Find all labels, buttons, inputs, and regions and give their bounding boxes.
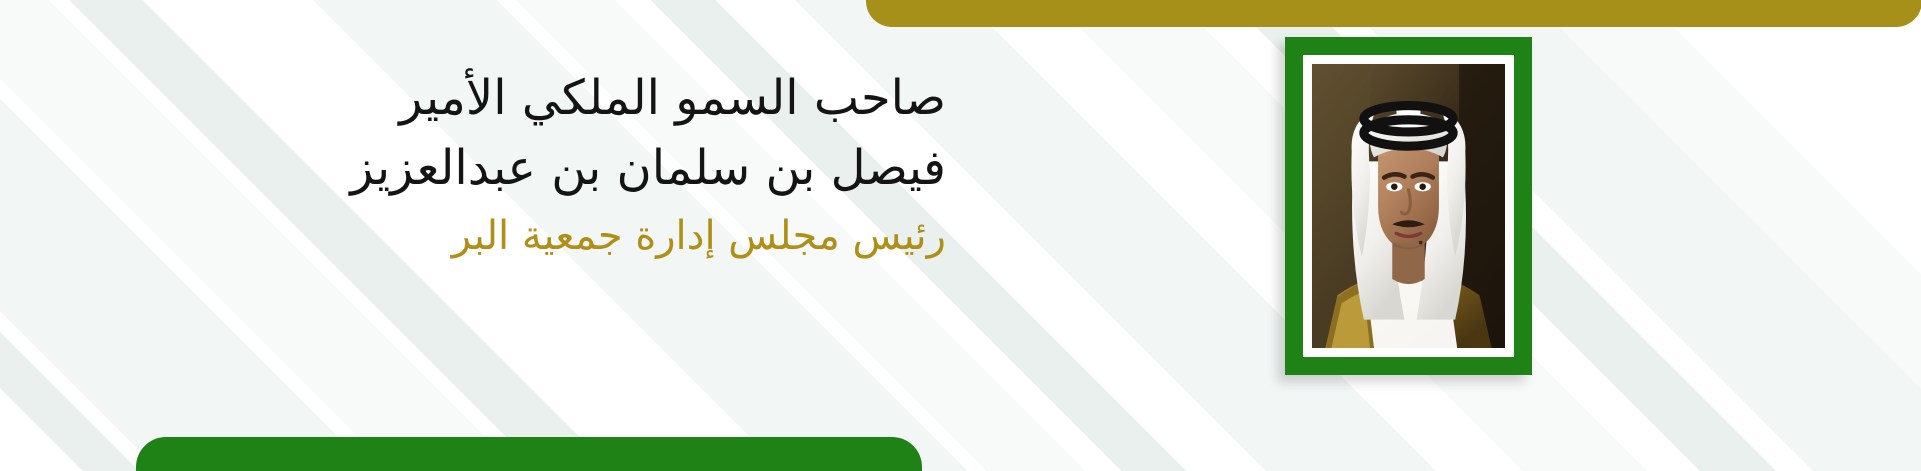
banner-root: صاحب السمو الملكي الأمير فيصل بن سلمان ب… bbox=[0, 0, 1921, 471]
headline-text-block: صاحب السمو الملكي الأمير فيصل بن سلمان ب… bbox=[226, 74, 946, 256]
stripe-14 bbox=[1487, 0, 1921, 471]
portrait-photo bbox=[1312, 64, 1505, 348]
portrait-frame bbox=[1285, 37, 1532, 375]
prince-title-line: صاحب السمو الملكي الأمير bbox=[226, 74, 946, 122]
portrait-mat bbox=[1303, 55, 1514, 357]
green-accent-bar bbox=[136, 437, 922, 471]
prince-name-line: فيصل بن سلمان بن عبدالعزيز bbox=[226, 144, 946, 192]
prince-role-line: رئيس مجلس إدارة جمعية البر bbox=[226, 216, 946, 256]
gold-accent-bar bbox=[866, 0, 1921, 27]
stripe-1 bbox=[0, 0, 117, 471]
portrait-illustration bbox=[1312, 64, 1505, 348]
